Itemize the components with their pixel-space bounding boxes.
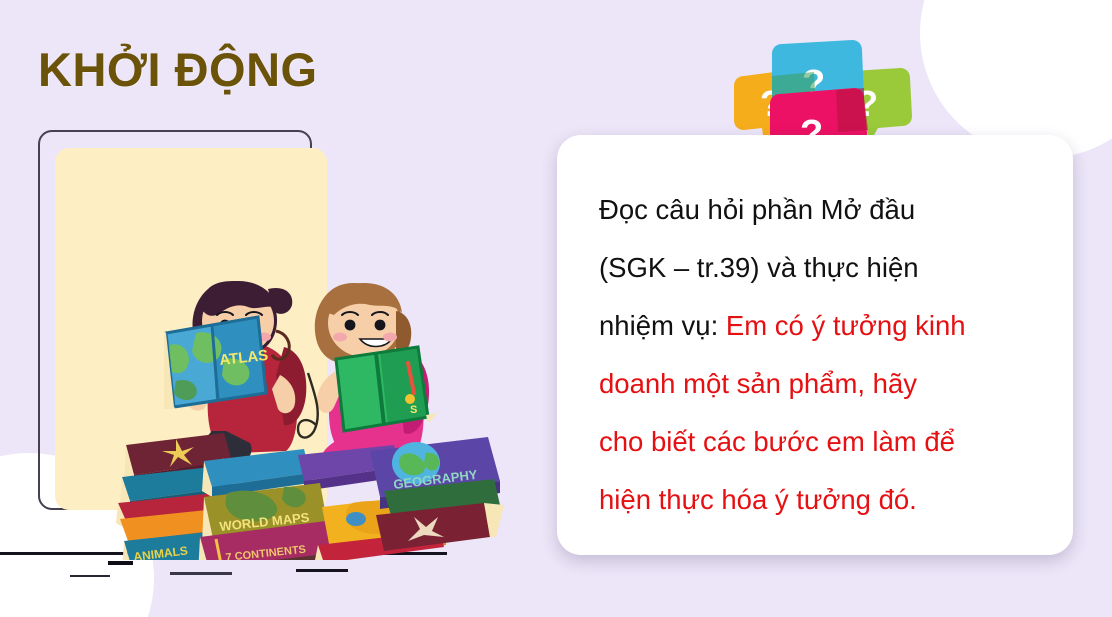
slide-canvas: KHỞI ĐỘNG: [0, 0, 1112, 617]
decorative-dash-3: [170, 572, 232, 575]
question-line-2: (SGK – tr.39) và thực hiện: [599, 252, 919, 283]
svg-text:S: S: [410, 404, 417, 416]
decorative-dash-1: [108, 561, 133, 565]
page-title: KHỞI ĐỘNG: [38, 42, 318, 97]
question-line-3a: nhiệm vụ:: [599, 310, 726, 341]
question-card: Đọc câu hỏi phần Mở đầu (SGK – tr.39) và…: [557, 135, 1073, 555]
question-line-3b: Em có ý tưởng kinh: [726, 310, 966, 341]
decorative-dash-4: [296, 569, 348, 572]
decorative-dash-2: [70, 575, 110, 577]
question-line-5: cho biết các bước em làm để: [599, 426, 955, 457]
question-line-4: doanh một sản phẩm, hãy: [599, 368, 917, 399]
question-line-1: Đọc câu hỏi phần Mở đầu: [599, 194, 915, 225]
question-line-6: hiện thực hóa ý tưởng đó.: [599, 484, 917, 515]
illustration-children-reading: ATLAS S: [108, 255, 528, 560]
question-text: Đọc câu hỏi phần Mở đầu (SGK – tr.39) và…: [599, 181, 1039, 529]
